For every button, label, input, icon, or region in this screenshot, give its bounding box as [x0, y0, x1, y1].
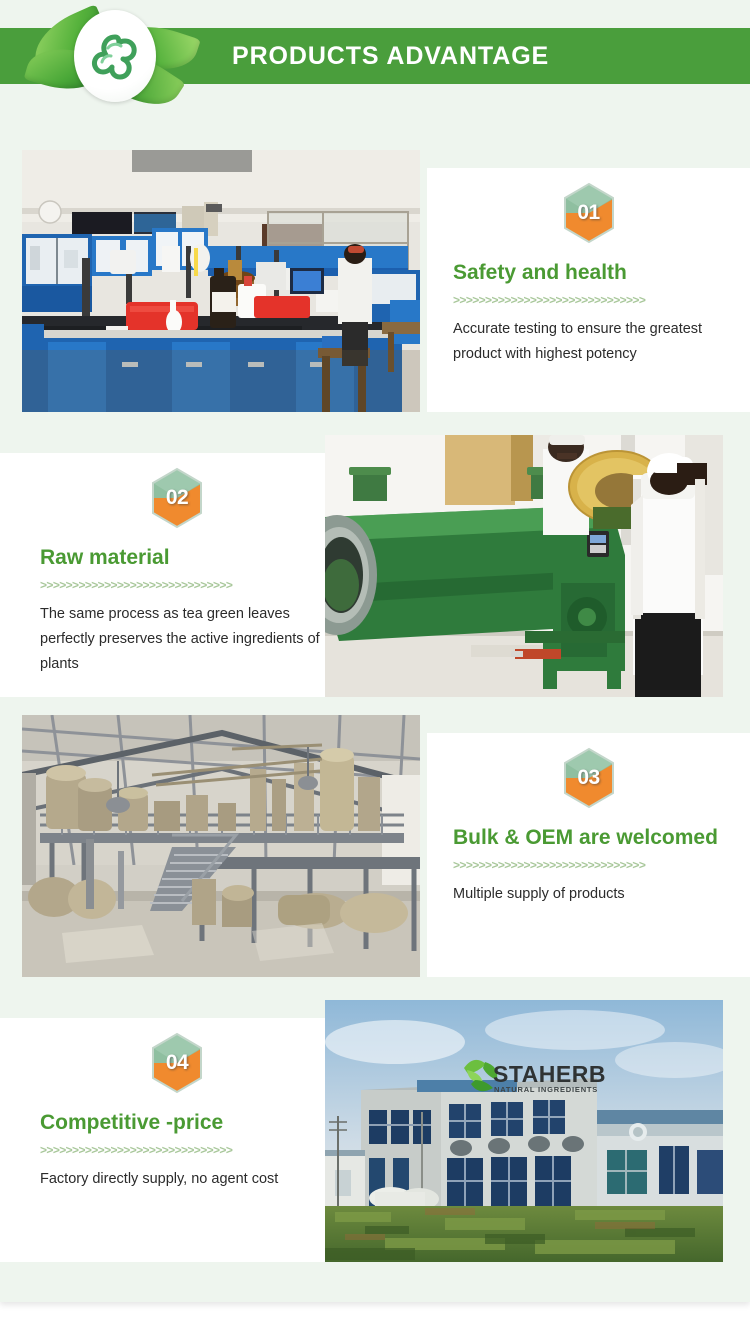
- advantage-card-3: 03 Bulk & OEM are welcomed >>>>>>>>>>>>>…: [427, 733, 750, 977]
- advantage-text-1: Accurate testing to ensure the greatest …: [453, 317, 724, 367]
- card-content-3: 03 Bulk & OEM are welcomed >>>>>>>>>>>>>…: [427, 747, 750, 907]
- photo-extraction-workshop-tanks: [22, 715, 420, 977]
- advantage-card-1: 01 Safety and health >>>>>>>>>>>>>>>>>>>…: [427, 168, 750, 412]
- advantage-row-2: 02 Raw material >>>>>>>>>>>>>>>>>>>>>>>>…: [0, 435, 750, 700]
- advantage-title-3: Bulk & OEM are welcomed: [453, 825, 724, 850]
- badge-number-text: 01: [562, 182, 616, 244]
- chevron-divider: >>>>>>>>>>>>>>>>>>>>>>>>>>>>>>: [453, 858, 724, 872]
- advantage-text-4: Factory directly supply, no agent cost: [40, 1167, 324, 1192]
- number-badge-03: 03: [562, 747, 616, 809]
- advantage-card-4: 04 Competitive -price >>>>>>>>>>>>>>>>>>…: [0, 1018, 350, 1262]
- product-advantage-page: PRODUCTS ADVANTAGE 01 Safety and health …: [0, 0, 750, 1302]
- chevron-divider: >>>>>>>>>>>>>>>>>>>>>>>>>>>>>>: [40, 1143, 324, 1157]
- advantage-title-2: Raw material: [40, 545, 324, 570]
- number-badge-02: 02: [150, 467, 204, 529]
- svg-text:NATURAL INGREDIENTS: NATURAL INGREDIENTS: [494, 1085, 598, 1094]
- photo-staherb-factory-building: STAHERB NATURAL INGREDIENTS: [325, 1000, 723, 1262]
- advantage-title-1: Safety and health: [453, 260, 724, 285]
- advantage-text-2: The same process as tea green leaves per…: [40, 602, 324, 677]
- advantage-row-3: 03 Bulk & OEM are welcomed >>>>>>>>>>>>>…: [0, 715, 750, 981]
- card-content-2: 02 Raw material >>>>>>>>>>>>>>>>>>>>>>>>…: [0, 467, 350, 677]
- advantage-row-1: 01 Safety and health >>>>>>>>>>>>>>>>>>>…: [0, 150, 750, 412]
- trefoil-logo-icon: [88, 28, 142, 84]
- page-title: PRODUCTS ADVANTAGE: [232, 42, 549, 70]
- badge-number-text: 04: [150, 1032, 204, 1094]
- brand-logo: [28, 0, 200, 112]
- card-content-1: 01 Safety and health >>>>>>>>>>>>>>>>>>>…: [427, 182, 750, 367]
- chevron-divider: >>>>>>>>>>>>>>>>>>>>>>>>>>>>>>: [40, 578, 324, 592]
- badge-number-text: 02: [150, 467, 204, 529]
- badge-number-text: 03: [562, 747, 616, 809]
- photo-tea-leaf-roasting-machine: [325, 435, 723, 697]
- number-badge-04: 04: [150, 1032, 204, 1094]
- number-badge-01: 01: [562, 182, 616, 244]
- advantage-card-2: 02 Raw material >>>>>>>>>>>>>>>>>>>>>>>>…: [0, 453, 350, 697]
- advantage-text-3: Multiple supply of products: [453, 882, 724, 907]
- page-header: PRODUCTS ADVANTAGE: [0, 0, 750, 112]
- chevron-divider: >>>>>>>>>>>>>>>>>>>>>>>>>>>>>>: [453, 293, 724, 307]
- photo-laboratory-quality-testing: [22, 150, 420, 412]
- advantage-row-4: 04 Competitive -price >>>>>>>>>>>>>>>>>>…: [0, 1000, 750, 1260]
- advantage-title-4: Competitive -price: [40, 1110, 324, 1135]
- card-content-4: 04 Competitive -price >>>>>>>>>>>>>>>>>>…: [0, 1032, 350, 1192]
- logo-medallion: [74, 10, 156, 102]
- svg-text:STAHERB: STAHERB: [493, 1061, 606, 1087]
